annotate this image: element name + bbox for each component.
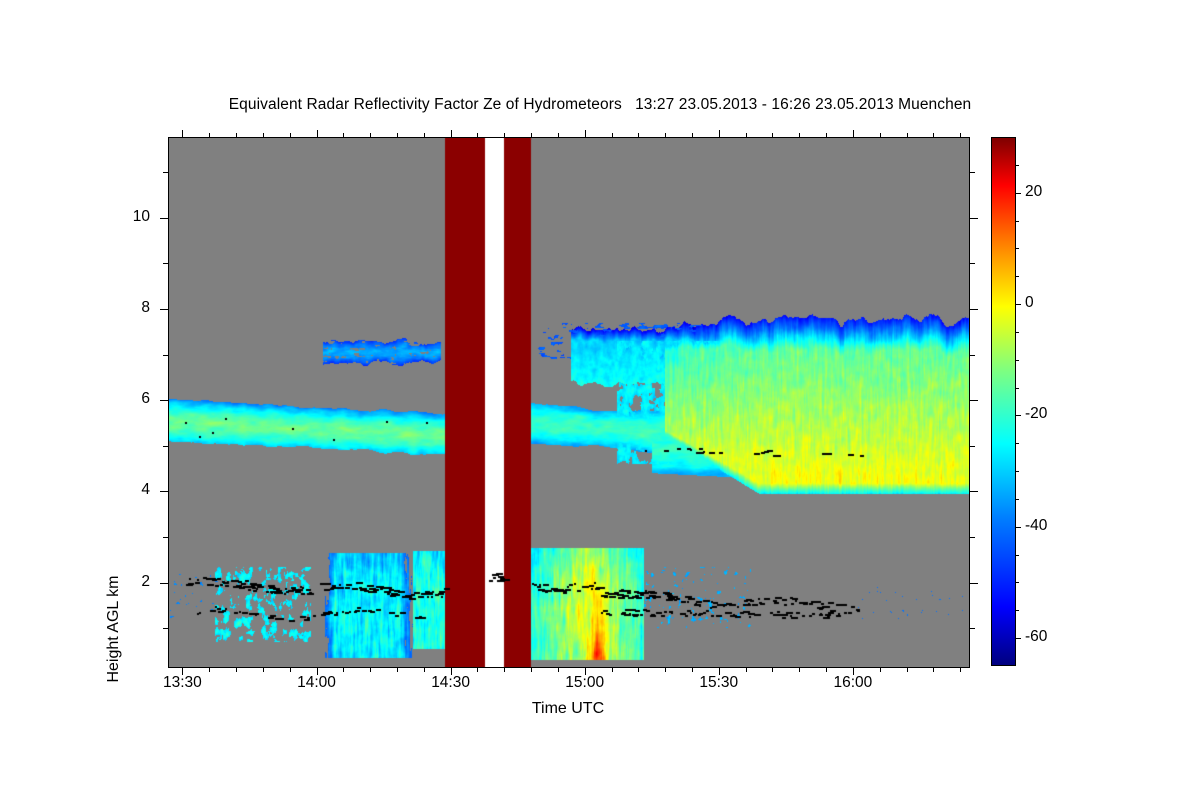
x-tick-minor-top	[638, 133, 639, 138]
x-tick-minor-top	[236, 133, 237, 138]
x-tick-minor-top	[397, 133, 398, 138]
y-tick-minor	[163, 537, 168, 538]
colorbar-tick	[1016, 638, 1021, 639]
x-tick-major-top	[585, 130, 586, 138]
x-tick-minor-top	[558, 133, 559, 138]
y-tick-minor-right	[970, 355, 975, 356]
x-tick-minor-top	[799, 133, 800, 138]
x-tick-minor-top	[343, 133, 344, 138]
x-tick-minor-top	[692, 133, 693, 138]
x-tick-minor-top	[933, 133, 934, 138]
x-tick-label: 15:30	[674, 674, 764, 692]
x-axis-title: Time UTC	[168, 700, 968, 718]
x-tick-minor	[424, 667, 425, 672]
x-tick-minor-top	[290, 133, 291, 138]
x-tick-minor	[772, 667, 773, 672]
x-tick-minor	[504, 667, 505, 672]
x-tick-minor-top	[880, 133, 881, 138]
colorbar-tick-label: -40	[1025, 517, 1047, 535]
colorbar-tick-minor	[1016, 582, 1019, 583]
x-tick-minor-top	[370, 133, 371, 138]
colorbar-tick-minor	[1016, 165, 1019, 166]
x-tick-minor-top	[826, 133, 827, 138]
x-tick-minor	[477, 667, 478, 672]
radar-heatmap-canvas	[169, 138, 969, 667]
x-tick-minor	[263, 667, 264, 672]
plot-area	[168, 137, 970, 668]
colorbar-tick	[1016, 527, 1021, 528]
colorbar-tick-label: 20	[1025, 183, 1042, 201]
x-tick-minor	[209, 667, 210, 672]
x-tick-minor	[746, 667, 747, 672]
y-tick-major	[160, 583, 168, 584]
colorbar-tick-minor	[1016, 471, 1019, 472]
x-tick-minor-top	[612, 133, 613, 138]
x-tick-minor	[907, 667, 908, 672]
x-tick-minor	[612, 667, 613, 672]
x-tick-minor-top	[424, 133, 425, 138]
x-tick-minor	[236, 667, 237, 672]
y-tick-major	[160, 400, 168, 401]
y-tick-minor-right	[970, 263, 975, 264]
x-tick-minor-top	[665, 133, 666, 138]
y-tick-major-right	[970, 491, 978, 492]
y-tick-minor-right	[970, 446, 975, 447]
x-tick-minor-top	[263, 133, 264, 138]
y-tick-minor	[163, 172, 168, 173]
x-tick-minor	[343, 667, 344, 672]
x-tick-major-top	[853, 130, 854, 138]
colorbar-tick-minor	[1016, 248, 1019, 249]
y-tick-minor-right	[970, 172, 975, 173]
x-tick-minor	[826, 667, 827, 672]
y-tick-major-right	[970, 400, 978, 401]
x-tick-major-top	[451, 130, 452, 138]
y-axis-title: Height AGL km	[105, 529, 123, 729]
y-tick-label: 10	[90, 208, 150, 226]
y-tick-major-right	[970, 218, 978, 219]
x-tick-label: 13:30	[137, 674, 227, 692]
x-tick-minor-top	[960, 133, 961, 138]
y-tick-major	[160, 218, 168, 219]
x-tick-minor	[960, 667, 961, 672]
colorbar-tick-label: 0	[1025, 294, 1034, 312]
x-tick-minor	[638, 667, 639, 672]
y-tick-minor-right	[970, 537, 975, 538]
x-tick-minor	[665, 667, 666, 672]
x-tick-minor	[692, 667, 693, 672]
x-tick-label: 14:30	[406, 674, 496, 692]
x-tick-minor-top	[772, 133, 773, 138]
y-tick-minor	[163, 263, 168, 264]
y-tick-major-right	[970, 583, 978, 584]
y-tick-minor	[163, 446, 168, 447]
colorbar-tick-minor	[1016, 221, 1019, 222]
x-tick-label: 16:00	[808, 674, 898, 692]
x-tick-minor-top	[504, 133, 505, 138]
x-tick-major-top	[317, 130, 318, 138]
x-tick-label: 15:00	[540, 674, 630, 692]
x-tick-minor-top	[209, 133, 210, 138]
x-tick-minor	[880, 667, 881, 672]
y-tick-minor-right	[970, 628, 975, 629]
y-tick-major	[160, 491, 168, 492]
colorbar-tick-minor	[1016, 276, 1019, 277]
y-tick-minor	[163, 355, 168, 356]
x-tick-minor	[370, 667, 371, 672]
x-tick-minor-top	[477, 133, 478, 138]
colorbar-tick-minor	[1016, 555, 1019, 556]
x-tick-minor	[799, 667, 800, 672]
y-tick-label: 4	[90, 481, 150, 499]
y-tick-minor	[163, 628, 168, 629]
colorbar-tick	[1016, 304, 1021, 305]
x-tick-minor	[558, 667, 559, 672]
x-tick-minor-top	[746, 133, 747, 138]
x-tick-minor	[933, 667, 934, 672]
colorbar-tick-minor	[1016, 499, 1019, 500]
colorbar-tick-minor	[1016, 610, 1019, 611]
x-tick-major-top	[182, 130, 183, 138]
x-tick-minor	[397, 667, 398, 672]
page-title: Equivalent Radar Reflectivity Factor Ze …	[0, 96, 1200, 114]
x-tick-minor	[290, 667, 291, 672]
colorbar-tick-label: -60	[1025, 628, 1047, 646]
x-tick-minor	[531, 667, 532, 672]
x-tick-minor-top	[907, 133, 908, 138]
y-tick-major-right	[970, 309, 978, 310]
x-tick-major-top	[719, 130, 720, 138]
radar-chart-page: Equivalent Radar Reflectivity Factor Ze …	[0, 0, 1200, 800]
x-tick-minor-top	[531, 133, 532, 138]
x-tick-label: 14:00	[272, 674, 362, 692]
colorbar-tick	[1016, 193, 1021, 194]
y-tick-major	[160, 309, 168, 310]
